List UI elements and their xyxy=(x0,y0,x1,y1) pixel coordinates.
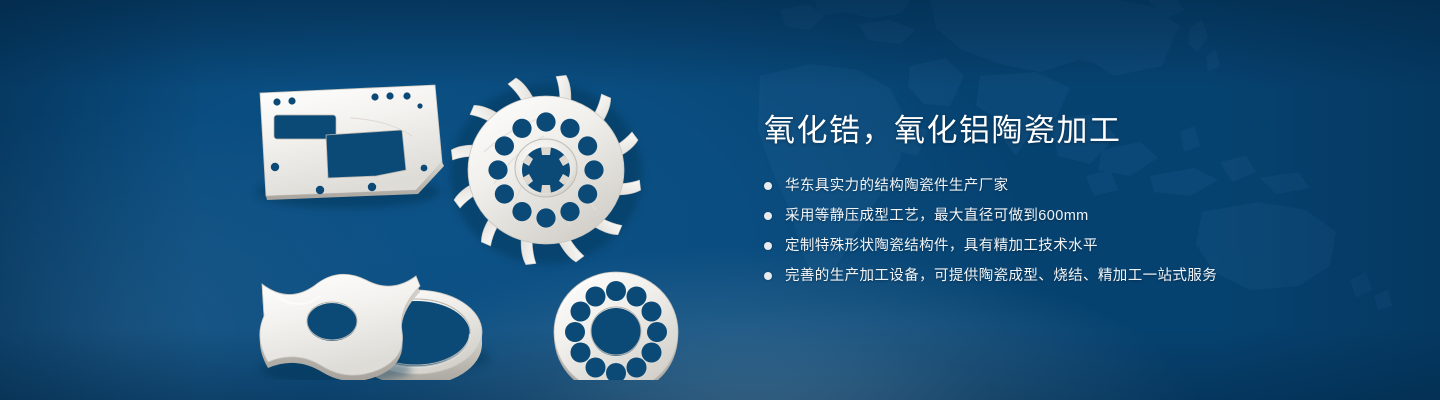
feature-list-item: 定制特殊形状陶瓷结构件，具有精加工技术水平 xyxy=(764,235,1384,257)
feature-list-item: 采用等静压成型工艺，最大直径可做到600mm xyxy=(764,205,1384,227)
product-photo-cluster xyxy=(230,40,710,380)
banner-headline: 氧化锆，氧化铝陶瓷加工 xyxy=(764,112,1384,149)
feature-text: 采用等静压成型工艺，最大直径可做到600mm xyxy=(785,209,1089,224)
feature-text: 完善的生产加工设备，可提供陶瓷成型、烧结、精加工一站式服务 xyxy=(785,269,1217,284)
bullet-dot-icon xyxy=(764,212,772,220)
banner-feature-list: 华东具实力的结构陶瓷件生产厂家 采用等静压成型工艺，最大直径可做到600mm 定… xyxy=(764,175,1384,287)
banner-copy-block: 氧化锆，氧化铝陶瓷加工 华东具实力的结构陶瓷件生产厂家 采用等静压成型工艺，最大… xyxy=(764,112,1384,287)
feature-text: 华东具实力的结构陶瓷件生产厂家 xyxy=(785,179,1009,194)
feature-text: 定制特殊形状陶瓷结构件，具有精加工技术水平 xyxy=(785,239,1098,254)
product-ceramic-mounting-plate xyxy=(256,85,444,208)
product-ceramic-impeller xyxy=(447,71,644,268)
feature-list-item: 华东具实力的结构陶瓷件生产厂家 xyxy=(764,175,1384,197)
bullet-dot-icon xyxy=(764,182,772,190)
feature-list-item: 完善的生产加工设备，可提供陶瓷成型、烧结、精加工一站式服务 xyxy=(764,265,1384,287)
bullet-dot-icon xyxy=(764,242,772,250)
hero-banner: 氧化锆，氧化铝陶瓷加工 华东具实力的结构陶瓷件生产厂家 采用等静压成型工艺，最大… xyxy=(0,0,1440,400)
bullet-dot-icon xyxy=(764,272,772,280)
product-ceramic-cross-plate xyxy=(260,274,420,380)
product-ceramic-perforated-disc xyxy=(554,272,680,380)
